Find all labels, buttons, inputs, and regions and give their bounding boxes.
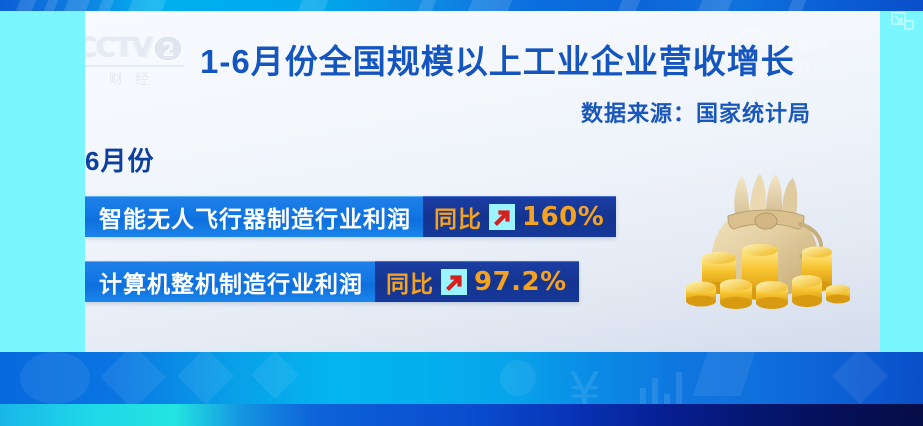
- yoy-label: 同比: [386, 265, 434, 299]
- period-label: 6月份: [85, 141, 154, 178]
- broadcast-graphic: CCTV 2 财经 央视网 com: [0, 0, 923, 426]
- arrow-up-right-icon: [489, 204, 515, 230]
- stat-row-label: 智能无人飞行器制造行业利润: [85, 196, 423, 237]
- money-bag-illustration: [670, 166, 880, 321]
- stat-row: 智能无人飞行器制造行业利润 同比 160%: [85, 196, 616, 237]
- page-title: 1-6月份全国规模以上工业企业营收增长: [200, 35, 795, 83]
- restore-down-icon[interactable]: [891, 12, 915, 32]
- left-cyan-rail: [0, 11, 85, 352]
- logo-channel-text: CCTV: [85, 33, 152, 64]
- bottom-decorative-banner: ¥: [0, 352, 923, 426]
- yoy-label: 同比: [434, 200, 482, 234]
- logo-channel-name: 财经: [85, 69, 198, 89]
- cctv2-logo: CCTV 2 财经: [85, 33, 198, 89]
- stat-value: 97.2%: [474, 267, 567, 297]
- logo-rule: [85, 65, 184, 67]
- arrow-up-right-icon: [441, 269, 467, 295]
- stat-row: 计算机整机制造行业利润 同比 97.2%: [85, 261, 579, 302]
- stat-row-badge: 同比 160%: [423, 196, 616, 237]
- logo-channel-number: 2: [155, 37, 181, 60]
- content-stage: CCTV 2 财经 央视网 com: [85, 11, 880, 352]
- top-decorative-bar: [0, 0, 923, 11]
- data-source-text: 数据来源：国家统计局: [581, 96, 811, 128]
- right-cyan-rail: [880, 11, 923, 352]
- stat-row-label: 计算机整机制造行业利润: [85, 261, 375, 302]
- stat-value: 160%: [522, 202, 604, 232]
- bottom-color-strip: [0, 404, 923, 426]
- stat-row-badge: 同比 97.2%: [375, 261, 579, 302]
